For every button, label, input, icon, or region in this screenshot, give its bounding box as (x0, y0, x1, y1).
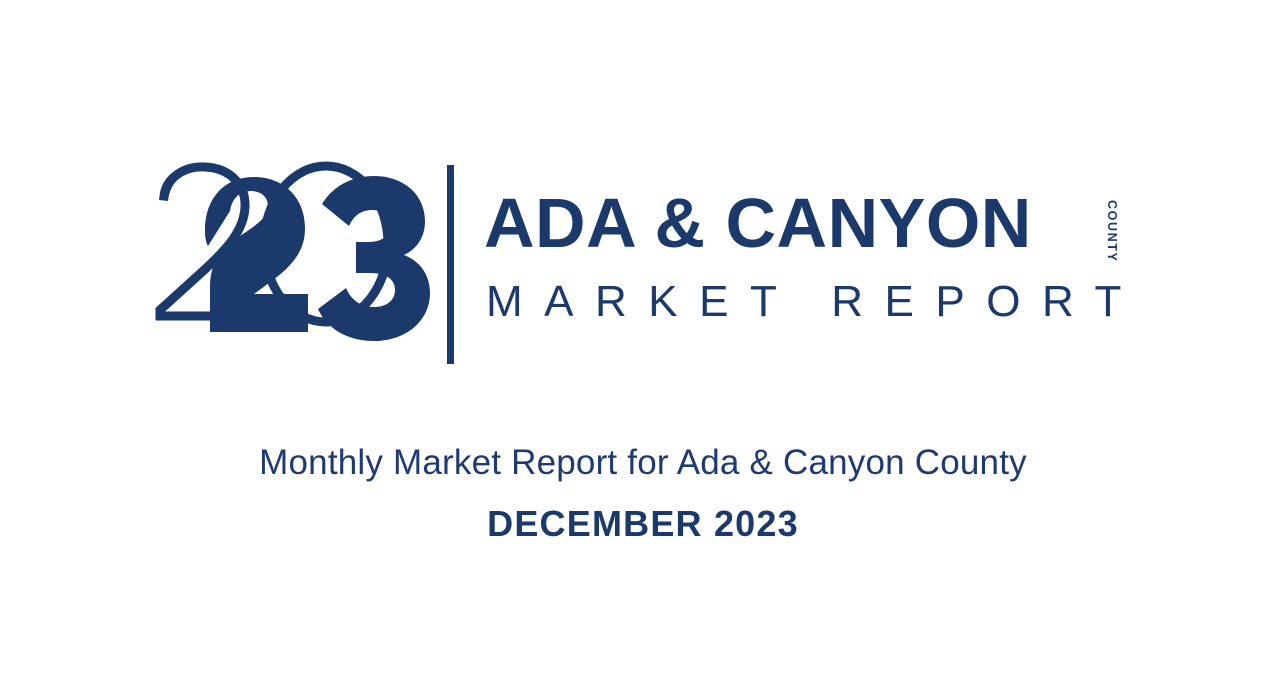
masthead-logo-lockup: ADA & CANYON COUNTY MARKET REPORT (0, 150, 1286, 380)
report-date: DECEMBER 2023 (0, 502, 1286, 546)
report-subtitle: Monthly Market Report for Ada & Canyon C… (0, 440, 1286, 486)
year-solid-23-icon (150, 158, 440, 380)
report-cover-page: ADA & CANYON COUNTY MARKET REPORT Monthl… (0, 0, 1286, 676)
wordmark: ADA & CANYON COUNTY MARKET REPORT (484, 150, 1164, 380)
wordmark-secondary-line: MARKET REPORT (486, 278, 1143, 326)
year-mark-2023 (150, 158, 440, 380)
wordmark-county-superscript: COUNTY (1106, 200, 1119, 262)
vertical-rule-icon (447, 165, 454, 364)
title-block: Monthly Market Report for Ada & Canyon C… (0, 440, 1286, 546)
wordmark-primary-line: ADA & CANYON (484, 192, 1032, 254)
